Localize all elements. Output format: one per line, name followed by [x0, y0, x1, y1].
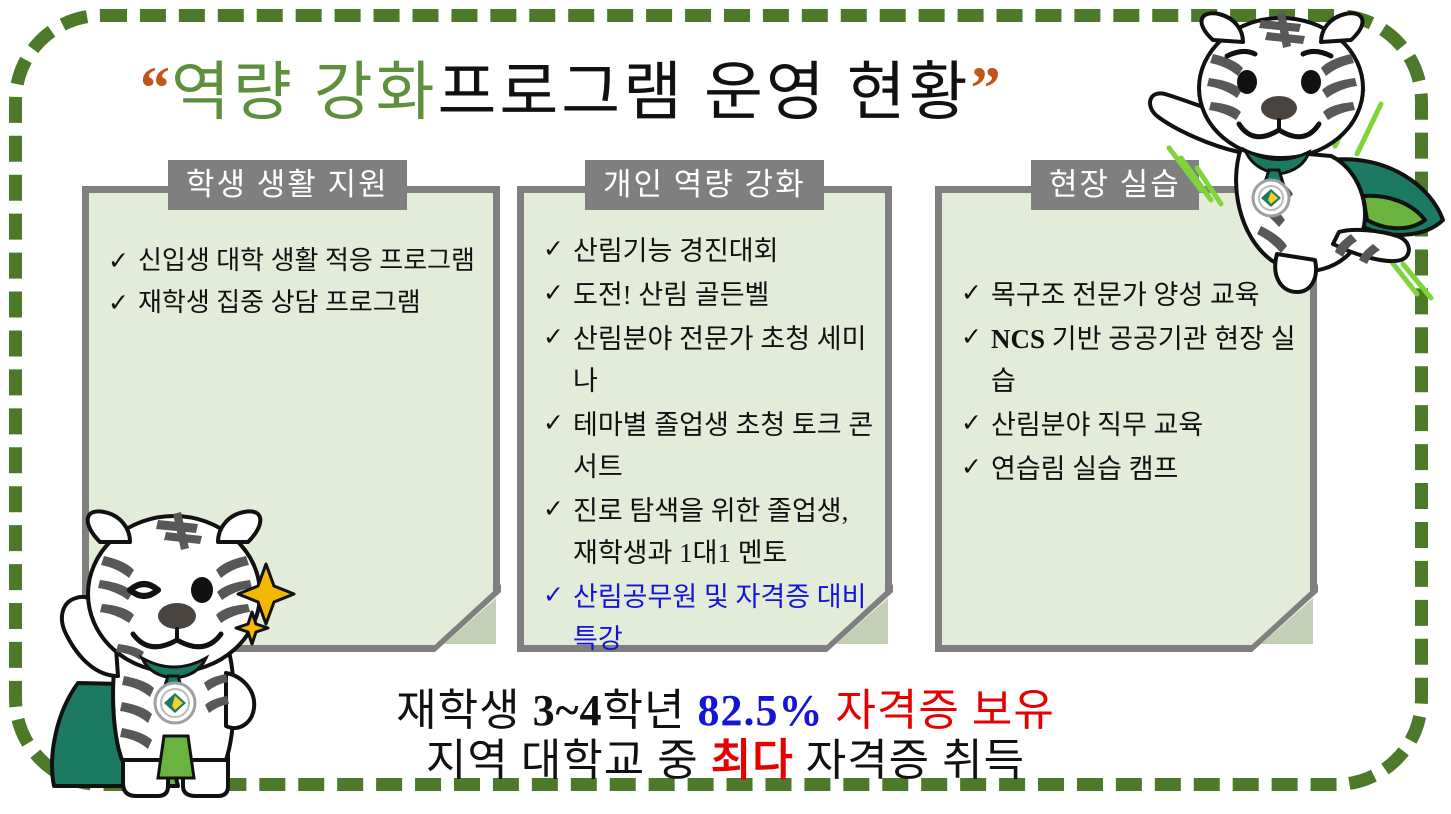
list-item: ✓ 신입생 대학 생활 적응 프로그램	[108, 242, 484, 282]
footer-text: 학년	[602, 686, 697, 735]
check-icon: ✓	[961, 274, 991, 314]
list-item: ✓ 연습림 실습 캠프	[961, 448, 1301, 490]
panel-header-2: 개인 역량 강화	[585, 160, 824, 210]
footer-emphasis: 최다	[711, 736, 794, 785]
panel-header-1: 학생 생활 지원	[168, 160, 407, 210]
list-item-label: 도전! 산림 골든벨	[573, 274, 876, 316]
footer-stat-label: 자격증 보유	[823, 686, 1054, 735]
footer-text: 지역 대학교 중	[426, 736, 711, 785]
page-title: “역량 강화프로그램 운영 현황”	[140, 42, 1200, 134]
list-item-label: 산림분야 직무 교육	[991, 404, 1301, 446]
check-icon: ✓	[543, 230, 573, 270]
list-item: ✓ NCS 기반 공공기관 현장 실습	[961, 318, 1301, 402]
list-item-label: 테마별 졸업생 초청 토크 콘서트	[573, 404, 876, 488]
list-item: ✓ 산림기능 경진대회	[543, 230, 876, 272]
quote-close-icon: ”	[971, 55, 1002, 121]
panel-list-3: ✓ 목구조 전문가 양성 교육 ✓ NCS 기반 공공기관 현장 실습 ✓ 산림…	[961, 274, 1301, 492]
check-icon: ✓	[543, 490, 573, 530]
footer-stat-percent: 82.5%	[697, 686, 823, 735]
check-icon: ✓	[543, 576, 573, 616]
slide-canvas: “역량 강화프로그램 운영 현황” 학생 생활 지원 ✓ 신입생 대학 생활 적…	[0, 0, 1451, 814]
check-icon: ✓	[108, 242, 138, 282]
list-item-highlighted: ✓ 산림공무원 및 자격증 대비 특강	[543, 576, 876, 660]
panel-list-1: ✓ 신입생 대학 생활 적응 프로그램 ✓ 재학생 집중 상담 프로그램	[108, 242, 484, 326]
list-item-label: 산림공무원 및 자격증 대비 특강	[573, 576, 876, 660]
list-item: ✓ 테마별 졸업생 초청 토크 콘서트	[543, 404, 876, 488]
footer-grade: 3~4	[533, 686, 603, 735]
quote-open-icon: “	[140, 55, 171, 121]
check-icon: ✓	[108, 284, 138, 324]
list-item-label: NCS 기반 공공기관 현장 실습	[991, 318, 1301, 402]
list-item: ✓ 진로 탐색을 위한 졸업생, 재학생과 1대1 멘토	[543, 490, 876, 574]
list-item-label: 연습림 실습 캠프	[991, 448, 1301, 490]
list-item: ✓ 도전! 산림 골든벨	[543, 274, 876, 316]
list-item-label: 산림기능 경진대회	[573, 230, 876, 272]
check-icon: ✓	[961, 404, 991, 444]
list-item-label: 신입생 대학 생활 적응 프로그램	[138, 242, 484, 280]
list-item-label: 산림분야 전문가 초청 세미나	[573, 318, 876, 402]
panel-list-2: ✓ 산림기능 경진대회 ✓ 도전! 산림 골든벨 ✓ 산림분야 전문가 초청 세…	[543, 230, 876, 662]
list-item: ✓ 산림분야 직무 교육	[961, 404, 1301, 446]
footer-text: 재학생	[396, 686, 532, 735]
list-item: ✓ 산림분야 전문가 초청 세미나	[543, 318, 876, 402]
list-item-label: 재학생 집중 상담 프로그램	[138, 284, 484, 322]
check-icon: ✓	[961, 318, 991, 358]
tiger-mascot-pointing	[18, 498, 310, 804]
title-rest: 프로그램 운영 현황	[438, 57, 971, 128]
list-item: ✓ 재학생 집중 상담 프로그램	[108, 284, 484, 324]
footer-text: 자격증 취득	[794, 736, 1025, 785]
check-icon: ✓	[543, 318, 573, 358]
title-highlight: 역량 강화	[171, 57, 438, 128]
list-item-label: 진로 탐색을 위한 졸업생, 재학생과 1대1 멘토	[573, 490, 876, 574]
panel-individual-capability: 개인 역량 강화 ✓ 산림기능 경진대회 ✓ 도전! 산림 골든벨 ✓ 산림분야…	[517, 186, 892, 652]
tiger-mascot-flying	[1135, 8, 1451, 304]
check-icon: ✓	[543, 274, 573, 314]
check-icon: ✓	[543, 404, 573, 444]
check-icon: ✓	[961, 448, 991, 488]
